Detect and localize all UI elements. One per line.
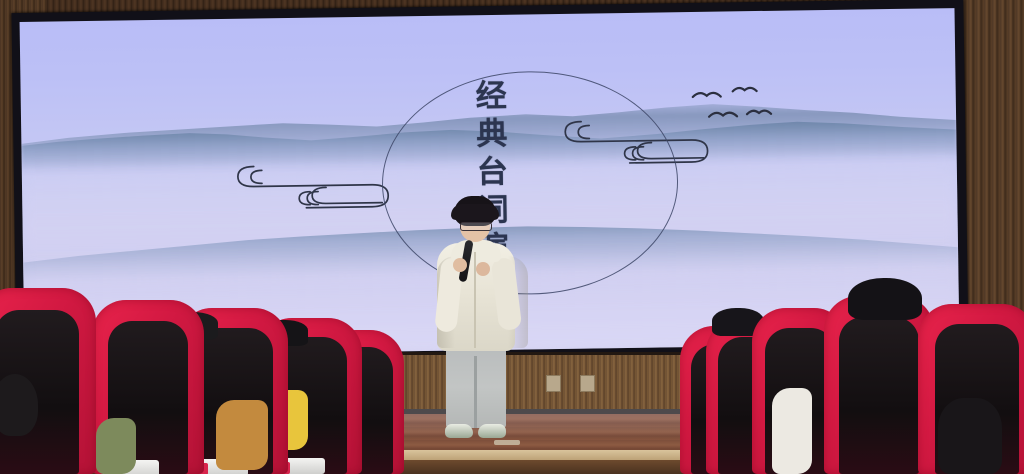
presenter-hand-left: [453, 258, 467, 272]
presenter-leg-seam: [474, 356, 477, 428]
wall-outlet-plate: [546, 375, 561, 392]
presenter-figure: [424, 196, 528, 448]
audience-head: [848, 278, 922, 320]
auditorium-stage-photo: 经典台词演绎: [0, 0, 1024, 474]
wall-outlet-plate: [580, 375, 595, 392]
presenter-shoe-left: [445, 424, 473, 438]
presenter-shoe-right: [478, 424, 506, 438]
draped-garment-white: [772, 388, 812, 474]
presenter-hand-right: [476, 262, 490, 276]
draped-garment-tan: [216, 400, 268, 470]
draped-garment-green: [96, 418, 136, 474]
audience-head: [938, 398, 1002, 474]
seat-cushion: [839, 317, 918, 474]
glasses-icon: [460, 222, 492, 231]
